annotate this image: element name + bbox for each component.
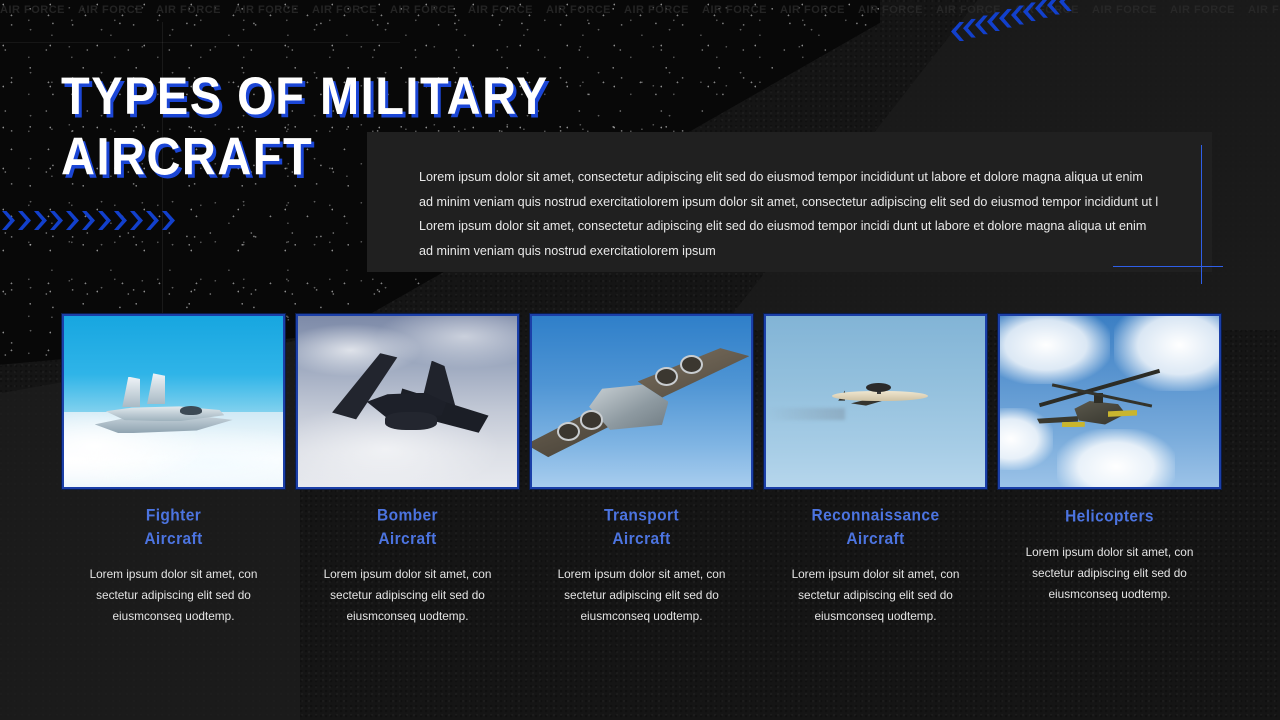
watermark-text: AIR FORCE (0, 4, 65, 16)
chevron-right-icon (951, 22, 964, 41)
chevron-right-icon (162, 211, 175, 230)
aircraft-card-title-line: Aircraft (296, 528, 519, 552)
aircraft-card-body: Lorem ipsum dolor sit amet, con sectetur… (530, 564, 753, 627)
watermark-text: AIR FORCE (858, 4, 923, 16)
aircraft-card-title-line: Aircraft (530, 528, 753, 552)
aircraft-card[interactable]: HelicoptersLorem ipsum dolor sit amet, c… (998, 314, 1221, 627)
aircraft-card[interactable]: ReconnaissanceAircraftLorem ipsum dolor … (764, 314, 987, 627)
watermark-text: AIR FORCE (1092, 4, 1157, 16)
chevron-right-icon (82, 211, 95, 230)
chevron-right-icon (963, 19, 976, 38)
aircraft-card-title-line: Helicopters (998, 505, 1221, 529)
chevron-right-icon (66, 211, 79, 230)
intro-text-panel: Lorem ipsum dolor sit amet, consectetur … (367, 132, 1212, 272)
crosshair-icon-horizontal (1113, 266, 1223, 267)
watermark-text: AIR FORCE (156, 4, 221, 16)
watermark-text: AIR FORCE (546, 4, 611, 16)
chevron-right-icon (34, 211, 47, 230)
aircraft-image-frame[interactable] (530, 314, 753, 489)
chevron-right-icon (98, 211, 111, 230)
watermark-text: AIR FORCE (390, 4, 455, 16)
watermark-text: AIR FORCE (1248, 4, 1280, 16)
transport-aircraft-photo (532, 316, 751, 487)
aircraft-card[interactable]: FighterAircraftLorem ipsum dolor sit ame… (62, 314, 285, 627)
chevron-right-icon (130, 211, 143, 230)
watermark-text: AIR FORCE (702, 4, 767, 16)
aircraft-card-title-line: Aircraft (764, 528, 987, 552)
aircraft-card[interactable]: TransportAircraftLorem ipsum dolor sit a… (530, 314, 753, 627)
air-force-watermark-strip: AIR FORCEAIR FORCEAIR FORCEAIR FORCEAIR … (0, 0, 1280, 20)
aircraft-card-body: Lorem ipsum dolor sit amet, con sectetur… (62, 564, 285, 627)
chevron-right-icon (2, 211, 15, 230)
aircraft-card-title: ReconnaissanceAircraft (764, 504, 987, 552)
aircraft-card[interactable]: BomberAircraftLorem ipsum dolor sit amet… (296, 314, 519, 627)
aircraft-image-frame[interactable] (62, 314, 285, 489)
chevron-group-top-right (952, 22, 1072, 41)
aircraft-card-title-line: Fighter (62, 504, 285, 528)
aircraft-image-frame[interactable] (296, 314, 519, 489)
fighter-jet-photo (64, 316, 283, 487)
watermark-text: AIR FORCE (312, 4, 377, 16)
aircraft-card-title: TransportAircraft (530, 504, 753, 552)
aircraft-image-frame[interactable] (998, 314, 1221, 489)
watermark-text: AIR FORCE (1170, 4, 1235, 16)
crosshair-icon-vertical (1201, 145, 1202, 284)
watermark-text: AIR FORCE (780, 4, 845, 16)
bomber-aircraft-photo (298, 316, 517, 487)
slide-canvas: AIR FORCEAIR FORCEAIR FORCEAIR FORCEAIR … (0, 0, 1280, 720)
reconnaissance-aircraft-photo (766, 316, 985, 487)
aircraft-card-row: FighterAircraftLorem ipsum dolor sit ame… (62, 314, 1218, 627)
aircraft-card-body: Lorem ipsum dolor sit amet, con sectetur… (296, 564, 519, 627)
watermark-text: AIR FORCE (234, 4, 299, 16)
watermark-text: AIR FORCE (468, 4, 533, 16)
helicopter-photo (1000, 316, 1219, 487)
aircraft-card-body: Lorem ipsum dolor sit amet, con sectetur… (764, 564, 987, 627)
chevron-group-left (2, 211, 175, 230)
chevron-right-icon (114, 211, 127, 230)
watermark-text: AIR FORCE (624, 4, 689, 16)
watermark-text: AIR FORCE (78, 4, 143, 16)
aircraft-card-title-line: Aircraft (62, 528, 285, 552)
aircraft-card-title-line: Transport (530, 504, 753, 528)
aircraft-card-title: FighterAircraft (62, 504, 285, 552)
aircraft-card-title-line: Bomber (296, 504, 519, 528)
aircraft-card-title: Helicopters (998, 505, 1221, 529)
aircraft-image-frame[interactable] (764, 314, 987, 489)
watermark-text: AIR FORCE (936, 4, 1001, 16)
background-hairline-horizontal (0, 42, 400, 43)
aircraft-card-title: BomberAircraft (296, 504, 519, 552)
aircraft-card-body: Lorem ipsum dolor sit amet, con sectetur… (998, 542, 1221, 605)
intro-paragraph: Lorem ipsum dolor sit amet, consectetur … (419, 165, 1159, 263)
chevron-right-icon (18, 211, 31, 230)
aircraft-card-title-line: Reconnaissance (764, 504, 987, 528)
chevron-right-icon (146, 211, 159, 230)
chevron-right-icon (50, 211, 63, 230)
